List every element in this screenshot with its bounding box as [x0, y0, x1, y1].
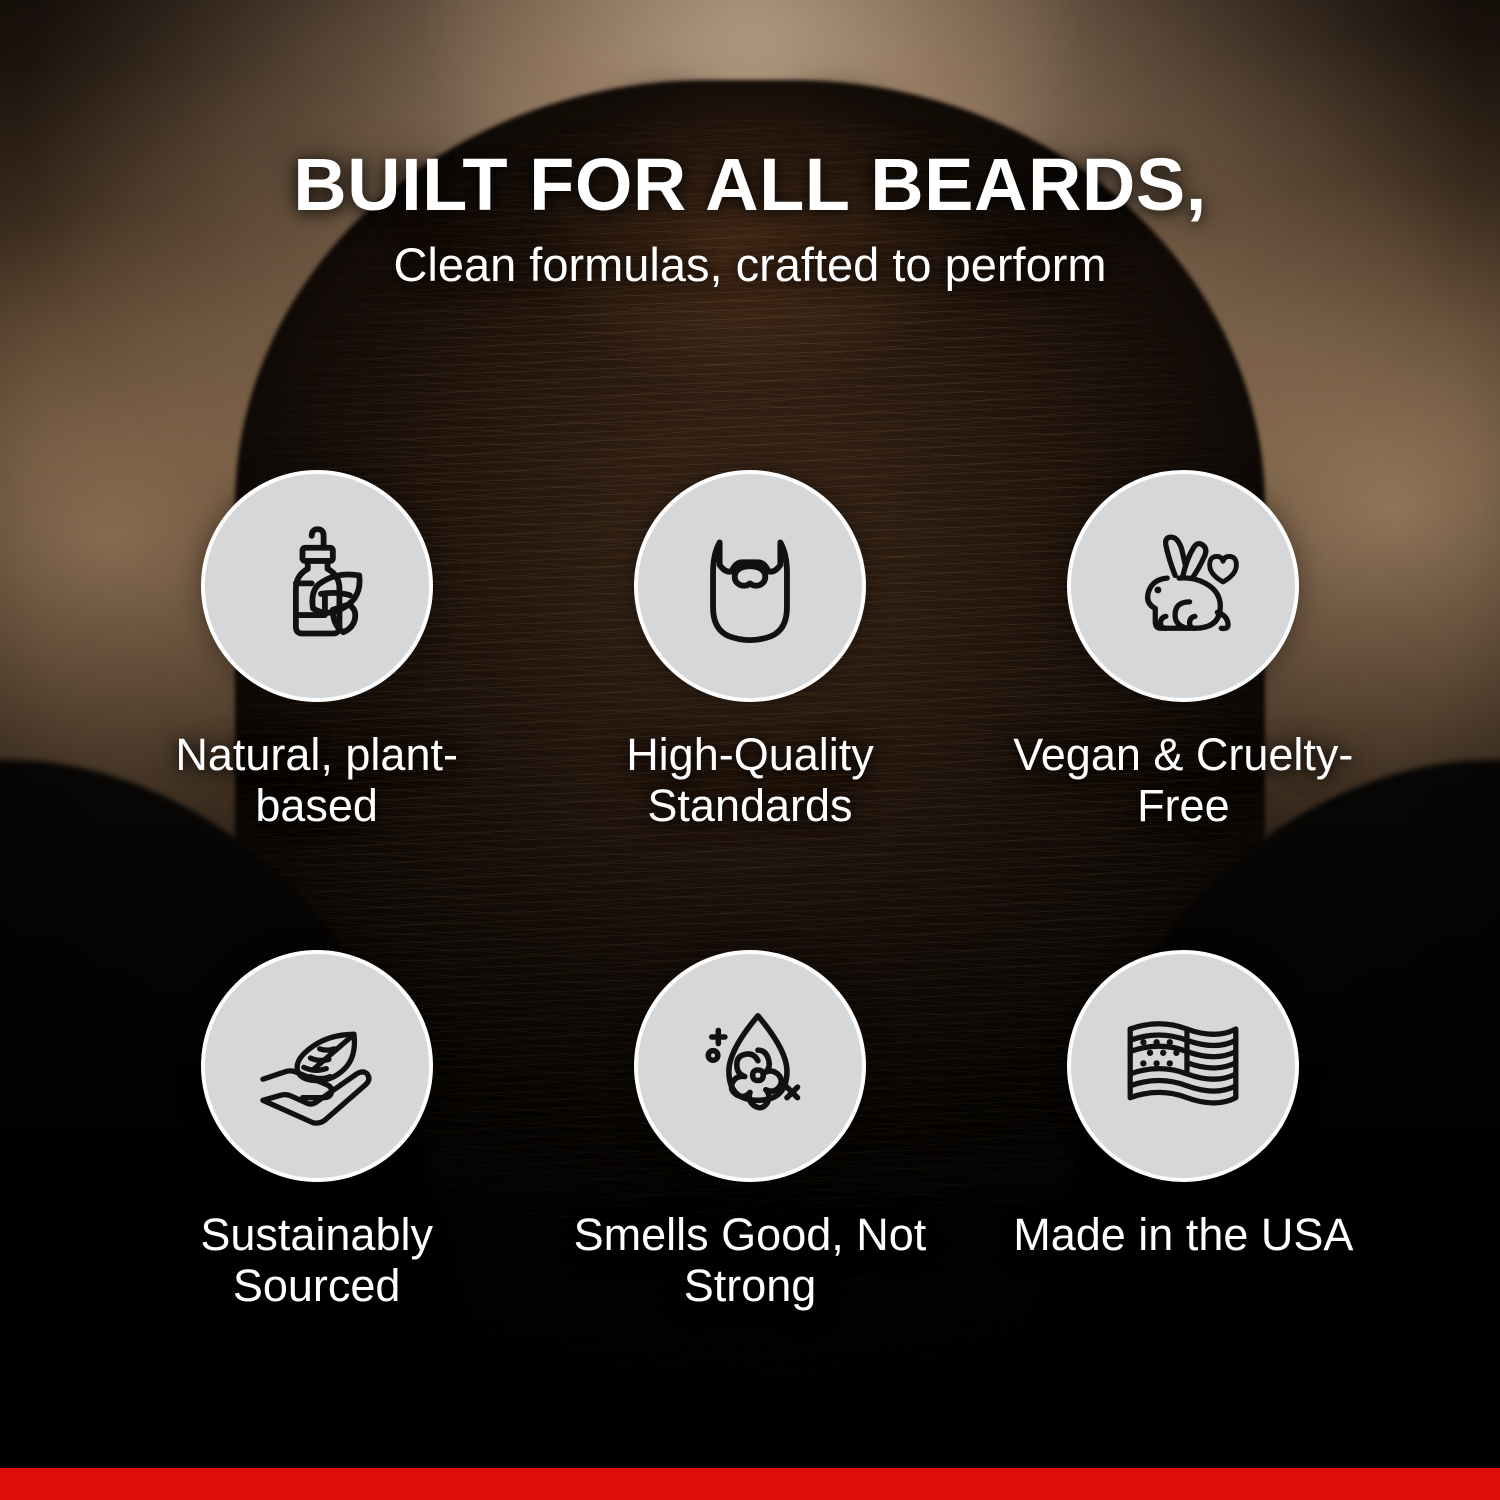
feature-icon-badge — [634, 950, 866, 1182]
feature-label: Smells Good, Not Strong — [560, 1210, 940, 1312]
feature-label: Sustainably Sourced — [127, 1210, 507, 1312]
feature-item: High-Quality Standards — [533, 470, 966, 950]
feature-icon-badge — [201, 470, 433, 702]
accent-footer-bar — [0, 1468, 1500, 1500]
feature-item: Smells Good, Not Strong — [533, 950, 966, 1430]
droplet-flower-icon — [684, 1000, 816, 1132]
feature-item: Vegan & Cruelty-Free — [967, 470, 1400, 950]
promo-banner: BUILT FOR ALL BEARDS, Clean formulas, cr… — [0, 0, 1500, 1500]
beard-icon — [684, 520, 816, 652]
feature-grid: Natural, plant-based High-Quality Standa… — [100, 470, 1400, 1430]
feature-label: Natural, plant-based — [127, 730, 507, 832]
rabbit-heart-icon — [1117, 520, 1249, 652]
hand-feather-icon — [251, 1000, 383, 1132]
usa-flag-icon — [1117, 1000, 1249, 1132]
feature-label: Made in the USA — [1013, 1210, 1353, 1261]
feature-icon-badge — [201, 950, 433, 1182]
feature-icon-badge — [1067, 470, 1299, 702]
feature-item: Natural, plant-based — [100, 470, 533, 950]
page-subtitle: Clean formulas, crafted to perform — [0, 241, 1500, 288]
feature-label: Vegan & Cruelty-Free — [993, 730, 1373, 832]
feature-icon-badge — [634, 470, 866, 702]
feature-item: Sustainably Sourced — [100, 950, 533, 1430]
dropper-bottle-leaf-icon — [251, 520, 383, 652]
feature-icon-badge — [1067, 950, 1299, 1182]
feature-item: Made in the USA — [967, 950, 1400, 1430]
feature-label: High-Quality Standards — [560, 730, 940, 832]
page-title: BUILT FOR ALL BEARDS, — [0, 148, 1500, 222]
